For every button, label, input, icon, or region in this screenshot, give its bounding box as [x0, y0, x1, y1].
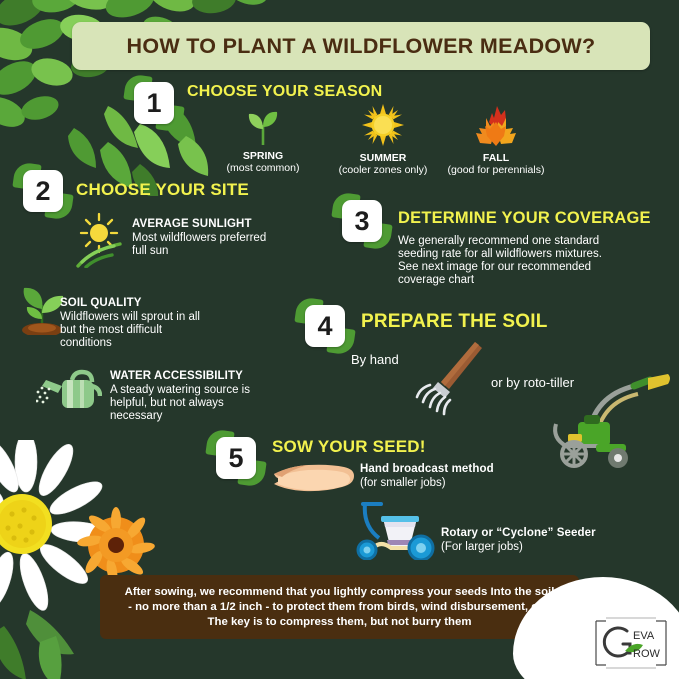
- site-item-line: necessary: [110, 410, 162, 424]
- site-item-line: helpful, but not always: [110, 397, 224, 411]
- step-number: 4: [317, 313, 332, 340]
- infographic-root: HOW TO PLANT A WILDFLOWER MEADOW? 1 CHOO…: [0, 0, 679, 679]
- site-item-title-sunlight: AVERAGE SUNLIGHT: [132, 218, 252, 230]
- step-heading-4: PREPARE THE SOIL: [361, 311, 548, 333]
- site-item-line: Most wildflowers preferred: [132, 232, 266, 246]
- note-line: - no more than a 1/2 inch - to protect t…: [128, 600, 551, 615]
- site-item-line: but the most difficult: [60, 324, 162, 338]
- sow-method-note-rotary: (For larger jobs): [441, 541, 523, 555]
- svg-text:ROW: ROW: [633, 648, 661, 660]
- season-note-summer: (cooler zones only): [323, 164, 443, 176]
- maple-leaf-icon: [472, 104, 520, 146]
- step-heading-2: CHOOSE YOUR SITE: [76, 180, 249, 200]
- g-leaf-logo-icon[interactable]: EVA ROW: [593, 615, 669, 671]
- site-item-line: conditions: [60, 337, 112, 351]
- coverage-line: coverage chart: [398, 274, 474, 288]
- bottom-note: After sowing, we recommend that you ligh…: [100, 575, 579, 639]
- step-number: 2: [35, 178, 50, 205]
- season-note-fall: (good for perennials): [431, 164, 561, 176]
- step-number: 5: [228, 445, 243, 472]
- watering-can-icon: [36, 366, 102, 412]
- site-item-line: A steady watering source is: [110, 384, 250, 398]
- sow-method-title-hand: Hand broadcast method: [360, 463, 494, 475]
- step-heading-3: DETERMINE YOUR COVERAGE: [398, 209, 651, 228]
- step-number: 1: [146, 90, 161, 117]
- soil-method-label-by-hand: By hand: [351, 352, 399, 367]
- roto-tiller-icon: [548, 362, 676, 470]
- rake-icon: [405, 338, 485, 418]
- sun-over-field-icon: [72, 212, 126, 268]
- svg-text:EVA: EVA: [633, 630, 655, 642]
- step-number: 3: [354, 208, 369, 235]
- coverage-line: We generally recommend one standard: [398, 235, 599, 249]
- page-title-bar: HOW TO PLANT A WILDFLOWER MEADOW?: [72, 22, 650, 70]
- season-note-spring: (most common): [213, 162, 313, 174]
- step-badge-1: 1: [131, 80, 177, 126]
- site-item-line: full sun: [132, 245, 168, 259]
- site-item-line: Wildflowers will sprout in all: [60, 311, 200, 325]
- season-name-summer: SUMMER: [333, 152, 433, 164]
- step-badge-4: 4: [302, 303, 348, 349]
- sow-method-title-rotary: Rotary or “Cyclone” Seeder: [441, 527, 596, 539]
- coverage-line: seeding rate for all wildflowers mixture…: [398, 248, 602, 262]
- step-badge-2: 2: [20, 168, 66, 214]
- site-item-title-water: WATER ACCESSIBILITY: [110, 370, 243, 382]
- step-badge-3: 3: [339, 198, 385, 244]
- daisy-flower-decoration: [0, 440, 174, 679]
- step-heading-5: SOW YOUR SEED!: [272, 437, 426, 457]
- seedling-icon: [245, 107, 281, 145]
- note-line: The key is to compress them, but not bur…: [208, 615, 472, 630]
- sun-icon: [362, 104, 404, 146]
- season-name-fall: FALL: [446, 152, 546, 164]
- season-name-spring: SPRING: [213, 150, 313, 162]
- site-item-title-soil: SOIL QUALITY: [60, 297, 142, 309]
- sow-method-note-hand: (for smaller jobs): [360, 477, 446, 491]
- coverage-line: See next image for our recommended: [398, 261, 591, 275]
- open-hand-icon: [272, 460, 358, 494]
- rotary-seeder-icon: [349, 496, 445, 560]
- page-title: HOW TO PLANT A WILDFLOWER MEADOW?: [127, 34, 596, 59]
- step-badge-5: 5: [213, 435, 259, 481]
- note-line: After sowing, we recommend that you ligh…: [125, 585, 555, 600]
- step-heading-1: CHOOSE YOUR SEASON: [187, 83, 382, 101]
